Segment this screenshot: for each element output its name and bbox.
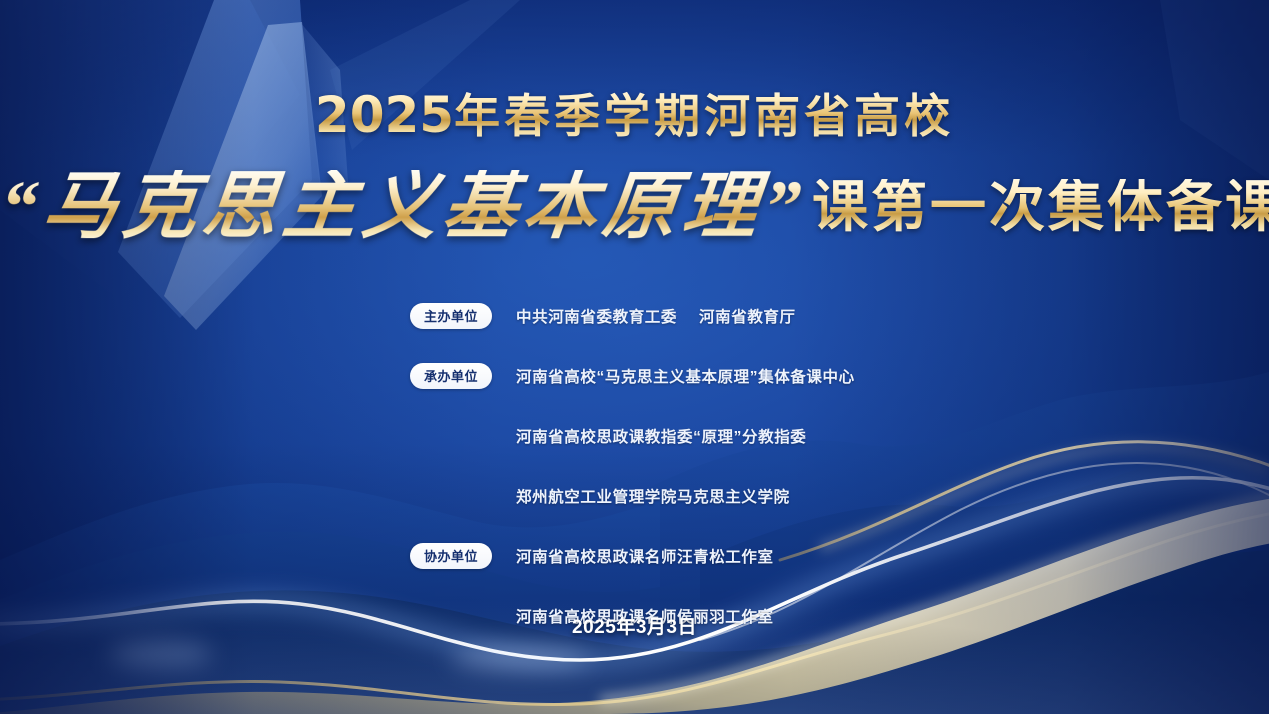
title-line-1: 2025年春季学期河南省高校 bbox=[0, 88, 1269, 143]
title-year: 2025 bbox=[315, 86, 454, 144]
organization-group-organizer: 承办单位 河南省高校“马克思主义基本原理”集体备课中心 河南省高校思政课教指委“… bbox=[410, 360, 1110, 511]
organizations-list: 主办单位 中共河南省委教育工委河南省教育厅 承办单位 河南省高校“马克思主义基本… bbox=[410, 300, 1110, 660]
organization-entry: 河南省教育厅 bbox=[699, 309, 796, 326]
organization-group-host: 主办单位 中共河南省委教育工委河南省教育厅 bbox=[410, 300, 1110, 331]
title-calligraphy-text: “马克思主义基本原理” bbox=[0, 170, 816, 244]
organization-line: 河南省高校思政课名师汪青松工作室 bbox=[516, 545, 774, 567]
badge-organizer-unit: 承办单位 bbox=[410, 363, 492, 389]
organization-line: 郑州航空工业管理学院马克思主义学院 bbox=[516, 485, 790, 507]
organization-line: 中共河南省委教育工委河南省教育厅 bbox=[516, 305, 796, 327]
title-block-text: 课第一次集体备课 bbox=[812, 179, 1269, 235]
organization-row: 河南省高校思政课教指委“原理”分教指委 bbox=[410, 420, 1110, 451]
organization-line: 河南省高校思政课教指委“原理”分教指委 bbox=[516, 425, 806, 447]
organization-line: 河南省高校“马克思主义基本原理”集体备课中心 bbox=[516, 365, 855, 387]
badge-coorganizer-unit: 协办单位 bbox=[410, 543, 492, 569]
organization-row: 承办单位 河南省高校“马克思主义基本原理”集体备课中心 bbox=[410, 360, 1110, 391]
poster-content: 2025年春季学期河南省高校 “马克思主义基本原理”课第一次集体备课 主办单位 … bbox=[0, 0, 1269, 714]
organization-row: 郑州航空工业管理学院马克思主义学院 bbox=[410, 480, 1110, 511]
badge-host-unit: 主办单位 bbox=[410, 303, 492, 329]
organization-row: 主办单位 中共河南省委教育工委河南省教育厅 bbox=[410, 300, 1110, 331]
title-line-1-text: 年春季学期河南省高校 bbox=[454, 90, 954, 142]
title-line-2: “马克思主义基本原理”课第一次集体备课 bbox=[0, 170, 1269, 244]
organization-entry: 中共河南省委教育工委 bbox=[516, 309, 677, 326]
event-date: 2025年3月3日 bbox=[0, 612, 1269, 639]
poster-canvas: 2025年春季学期河南省高校 “马克思主义基本原理”课第一次集体备课 主办单位 … bbox=[0, 0, 1269, 714]
organization-row: 协办单位 河南省高校思政课名师汪青松工作室 bbox=[410, 540, 1110, 571]
